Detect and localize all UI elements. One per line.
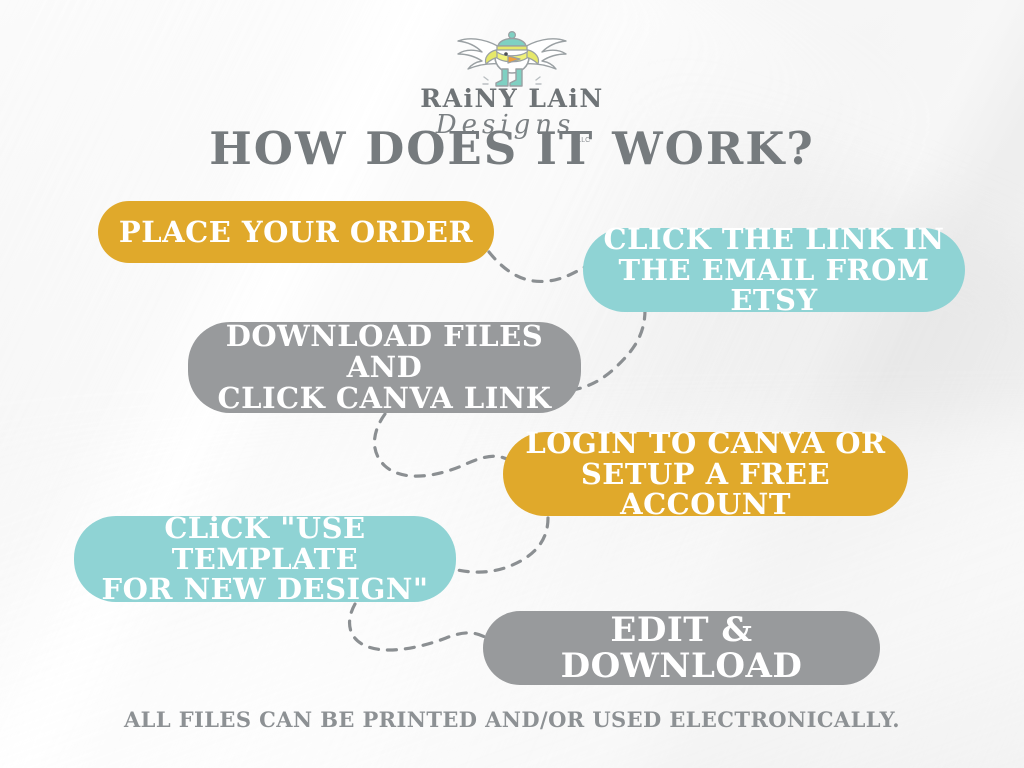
- step-label-line-1: CLiCK "USE TEMPLATE: [92, 513, 438, 574]
- step-label: LOGIN TO CANVA OR SETUP A FREE ACCOUNT: [521, 428, 890, 520]
- connector-step5-step6: [350, 604, 490, 650]
- connector-step4-step5: [443, 518, 548, 572]
- infographic-canvas: RAiNY LAiN DesignsLLC HOW DOES IT WORK? …: [0, 0, 1024, 768]
- step-label: DOWNLOAD FILES AND CLICK CANVA LINK: [206, 321, 563, 413]
- step-label-line-2: FOR NEW DESIGN": [92, 574, 438, 605]
- step-card-click-email-link[interactable]: CLICK THE LINK IN THE EMAIL FROM ETSY: [583, 228, 965, 312]
- connector-step2-step3: [572, 310, 645, 390]
- step-card-use-template[interactable]: CLiCK "USE TEMPLATE FOR NEW DESIGN": [74, 516, 456, 602]
- step-label-line-2: THE EMAIL FROM ETSY: [601, 255, 947, 316]
- step-label-line-1: CLICK THE LINK IN: [601, 224, 947, 255]
- connector-step3-step4: [374, 414, 512, 476]
- step-card-edit-download[interactable]: EDIT & DOWNLOAD: [483, 611, 880, 685]
- step-label: EDIT & DOWNLOAD: [501, 612, 862, 684]
- step-card-login-canva[interactable]: LOGIN TO CANVA OR SETUP A FREE ACCOUNT: [503, 432, 908, 516]
- step-card-place-your-order[interactable]: PLACE YOUR ORDER: [98, 201, 494, 263]
- connector-step1-step2: [489, 252, 596, 281]
- step-label: CLICK THE LINK IN THE EMAIL FROM ETSY: [601, 224, 947, 316]
- step-label: CLiCK "USE TEMPLATE FOR NEW DESIGN": [92, 513, 438, 605]
- step-label-line-2: SETUP A FREE ACCOUNT: [521, 459, 890, 520]
- step-label-line-1: DOWNLOAD FILES AND: [206, 321, 563, 382]
- step-label-line-1: LOGIN TO CANVA OR: [521, 428, 890, 459]
- step-label-line-2: CLICK CANVA LINK: [206, 383, 563, 414]
- step-card-download-files[interactable]: DOWNLOAD FILES AND CLICK CANVA LINK: [188, 322, 581, 413]
- footer-note: ALL FILES CAN BE PRINTED AND/OR USED ELE…: [0, 707, 1024, 732]
- step-label: PLACE YOUR ORDER: [119, 217, 473, 248]
